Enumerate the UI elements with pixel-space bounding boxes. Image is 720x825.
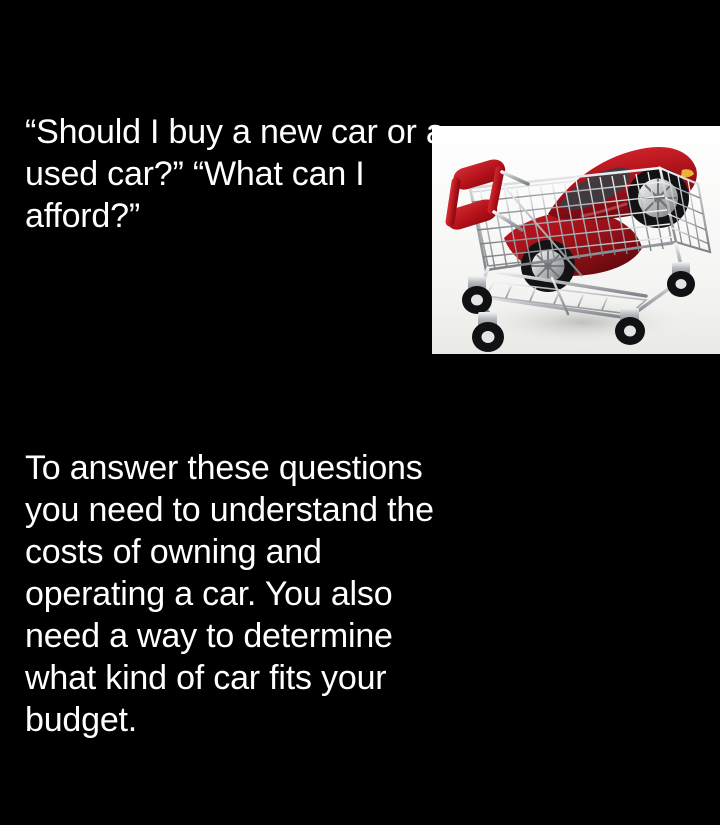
paragraph-answer: To answer these questions you need to un… [25, 447, 445, 741]
paragraph-question: “Should I buy a new car or a used car?” … [25, 111, 445, 237]
car-in-shopping-cart-photo [432, 126, 720, 354]
slide-text-block: “Should I buy a new car or a used car?” … [25, 27, 445, 825]
slide: “Should I buy a new car or a used car?” … [0, 0, 720, 540]
car-in-shopping-cart-illustration [432, 126, 720, 354]
paragraph-spacer [25, 321, 445, 363]
